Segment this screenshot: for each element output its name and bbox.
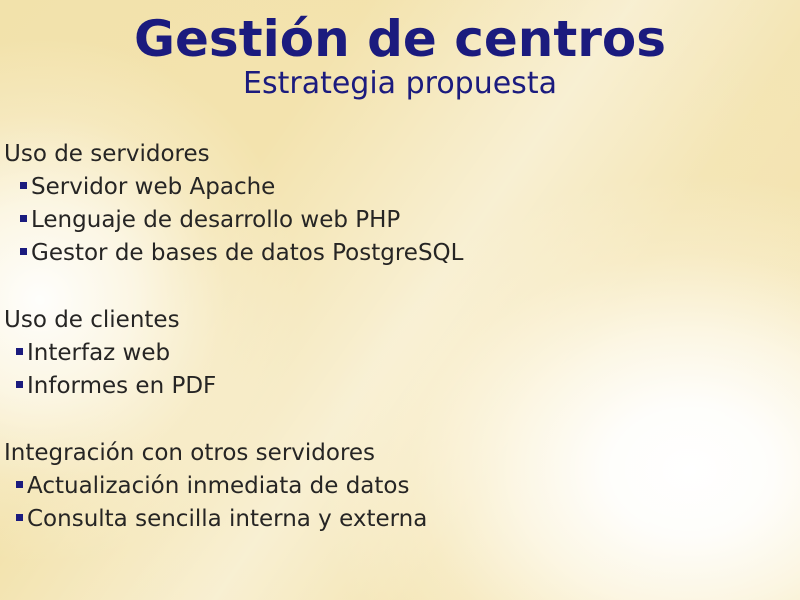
list-item: Lenguaje de desarrollo web PHP [2,204,792,237]
content-group-servidores: Uso de servidores Servidor web Apache Le… [2,138,792,270]
square-bullet-icon [16,481,23,488]
list-item: Interfaz web [2,337,792,370]
presentation-slide: Gestión de centros Estrategia propuesta … [0,0,800,600]
list-item: Servidor web Apache [2,171,792,204]
slide-body: Uso de servidores Servidor web Apache Le… [2,138,792,536]
square-bullet-icon [16,348,23,355]
square-bullet-icon [20,182,27,189]
list-item-label: Actualización inmediata de datos [27,470,409,503]
list-item-label: Gestor de bases de datos PostgreSQL [31,237,463,270]
list-item: Gestor de bases de datos PostgreSQL [2,237,792,270]
slide-content: Gestión de centros Estrategia propuesta … [0,0,800,600]
list-item-label: Lenguaje de desarrollo web PHP [31,204,400,237]
list-item-label: Informes en PDF [27,370,216,403]
bullet-list: Actualización inmediata de datos Consult… [2,470,792,536]
list-item: Actualización inmediata de datos [2,470,792,503]
square-bullet-icon [16,381,23,388]
slide-subtitle: Estrategia propuesta [0,66,800,102]
title-block: Gestión de centros Estrategia propuesta [0,10,800,102]
list-item-label: Interfaz web [27,337,170,370]
bullet-list: Interfaz web Informes en PDF [2,337,792,403]
group-heading: Uso de clientes [2,304,792,337]
bullet-list: Servidor web Apache Lenguaje de desarrol… [2,171,792,270]
group-heading: Integración con otros servidores [2,437,792,470]
list-item-label: Servidor web Apache [31,171,275,204]
slide-title: Gestión de centros [0,10,800,68]
square-bullet-icon [20,248,27,255]
square-bullet-icon [20,215,27,222]
list-item-label: Consulta sencilla interna y externa [27,503,427,536]
list-item: Informes en PDF [2,370,792,403]
content-group-integracion: Integración con otros servidores Actuali… [2,437,792,536]
content-group-clientes: Uso de clientes Interfaz web Informes en… [2,304,792,403]
square-bullet-icon [16,514,23,521]
list-item: Consulta sencilla interna y externa [2,503,792,536]
group-heading: Uso de servidores [2,138,792,171]
